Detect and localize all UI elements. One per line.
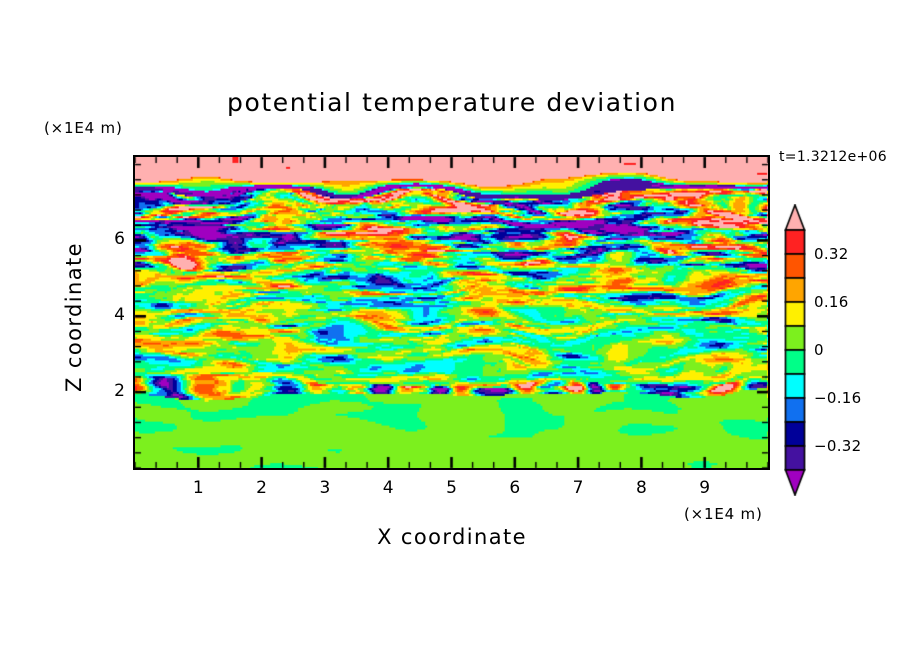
contour-plot-panel	[133, 155, 770, 470]
x-tick-label: 6	[495, 478, 535, 498]
x-tick-label: 7	[558, 478, 598, 498]
figure-root: potential temperature deviation (×1E4 m)…	[0, 0, 904, 654]
x-tick-label: 2	[242, 478, 282, 498]
colorbar	[784, 204, 806, 496]
x-tick-label: 1	[178, 478, 218, 498]
x-tick-label: 3	[305, 478, 345, 498]
temperature-deviation-field	[135, 157, 768, 468]
colorbar-tick-label: −0.32	[814, 437, 861, 455]
x-tick-label: 8	[621, 478, 661, 498]
colorbar-tick-label: 0.32	[814, 245, 849, 263]
colorbar-tick-label: 0.16	[814, 293, 849, 311]
z-axis-unit-label: (×1E4 m)	[44, 119, 123, 137]
x-axis-unit-label: (×1E4 m)	[684, 505, 763, 523]
z-tick-label: 4	[105, 305, 125, 325]
x-axis-title: X coordinate	[0, 525, 904, 549]
time-stamp-annotation: t=1.3212e+06	[779, 149, 887, 165]
x-tick-label: 5	[432, 478, 472, 498]
colorbar-tick-label: 0	[814, 341, 824, 359]
colorbar-gradient	[784, 204, 806, 496]
z-tick-label: 2	[105, 381, 125, 401]
z-tick-label: 6	[105, 229, 125, 249]
x-tick-label: 4	[368, 478, 408, 498]
colorbar-tick-label: −0.16	[814, 389, 861, 407]
x-tick-label: 9	[685, 478, 725, 498]
page-title: potential temperature deviation	[0, 88, 904, 117]
z-axis-title: Z coordinate	[62, 217, 86, 417]
